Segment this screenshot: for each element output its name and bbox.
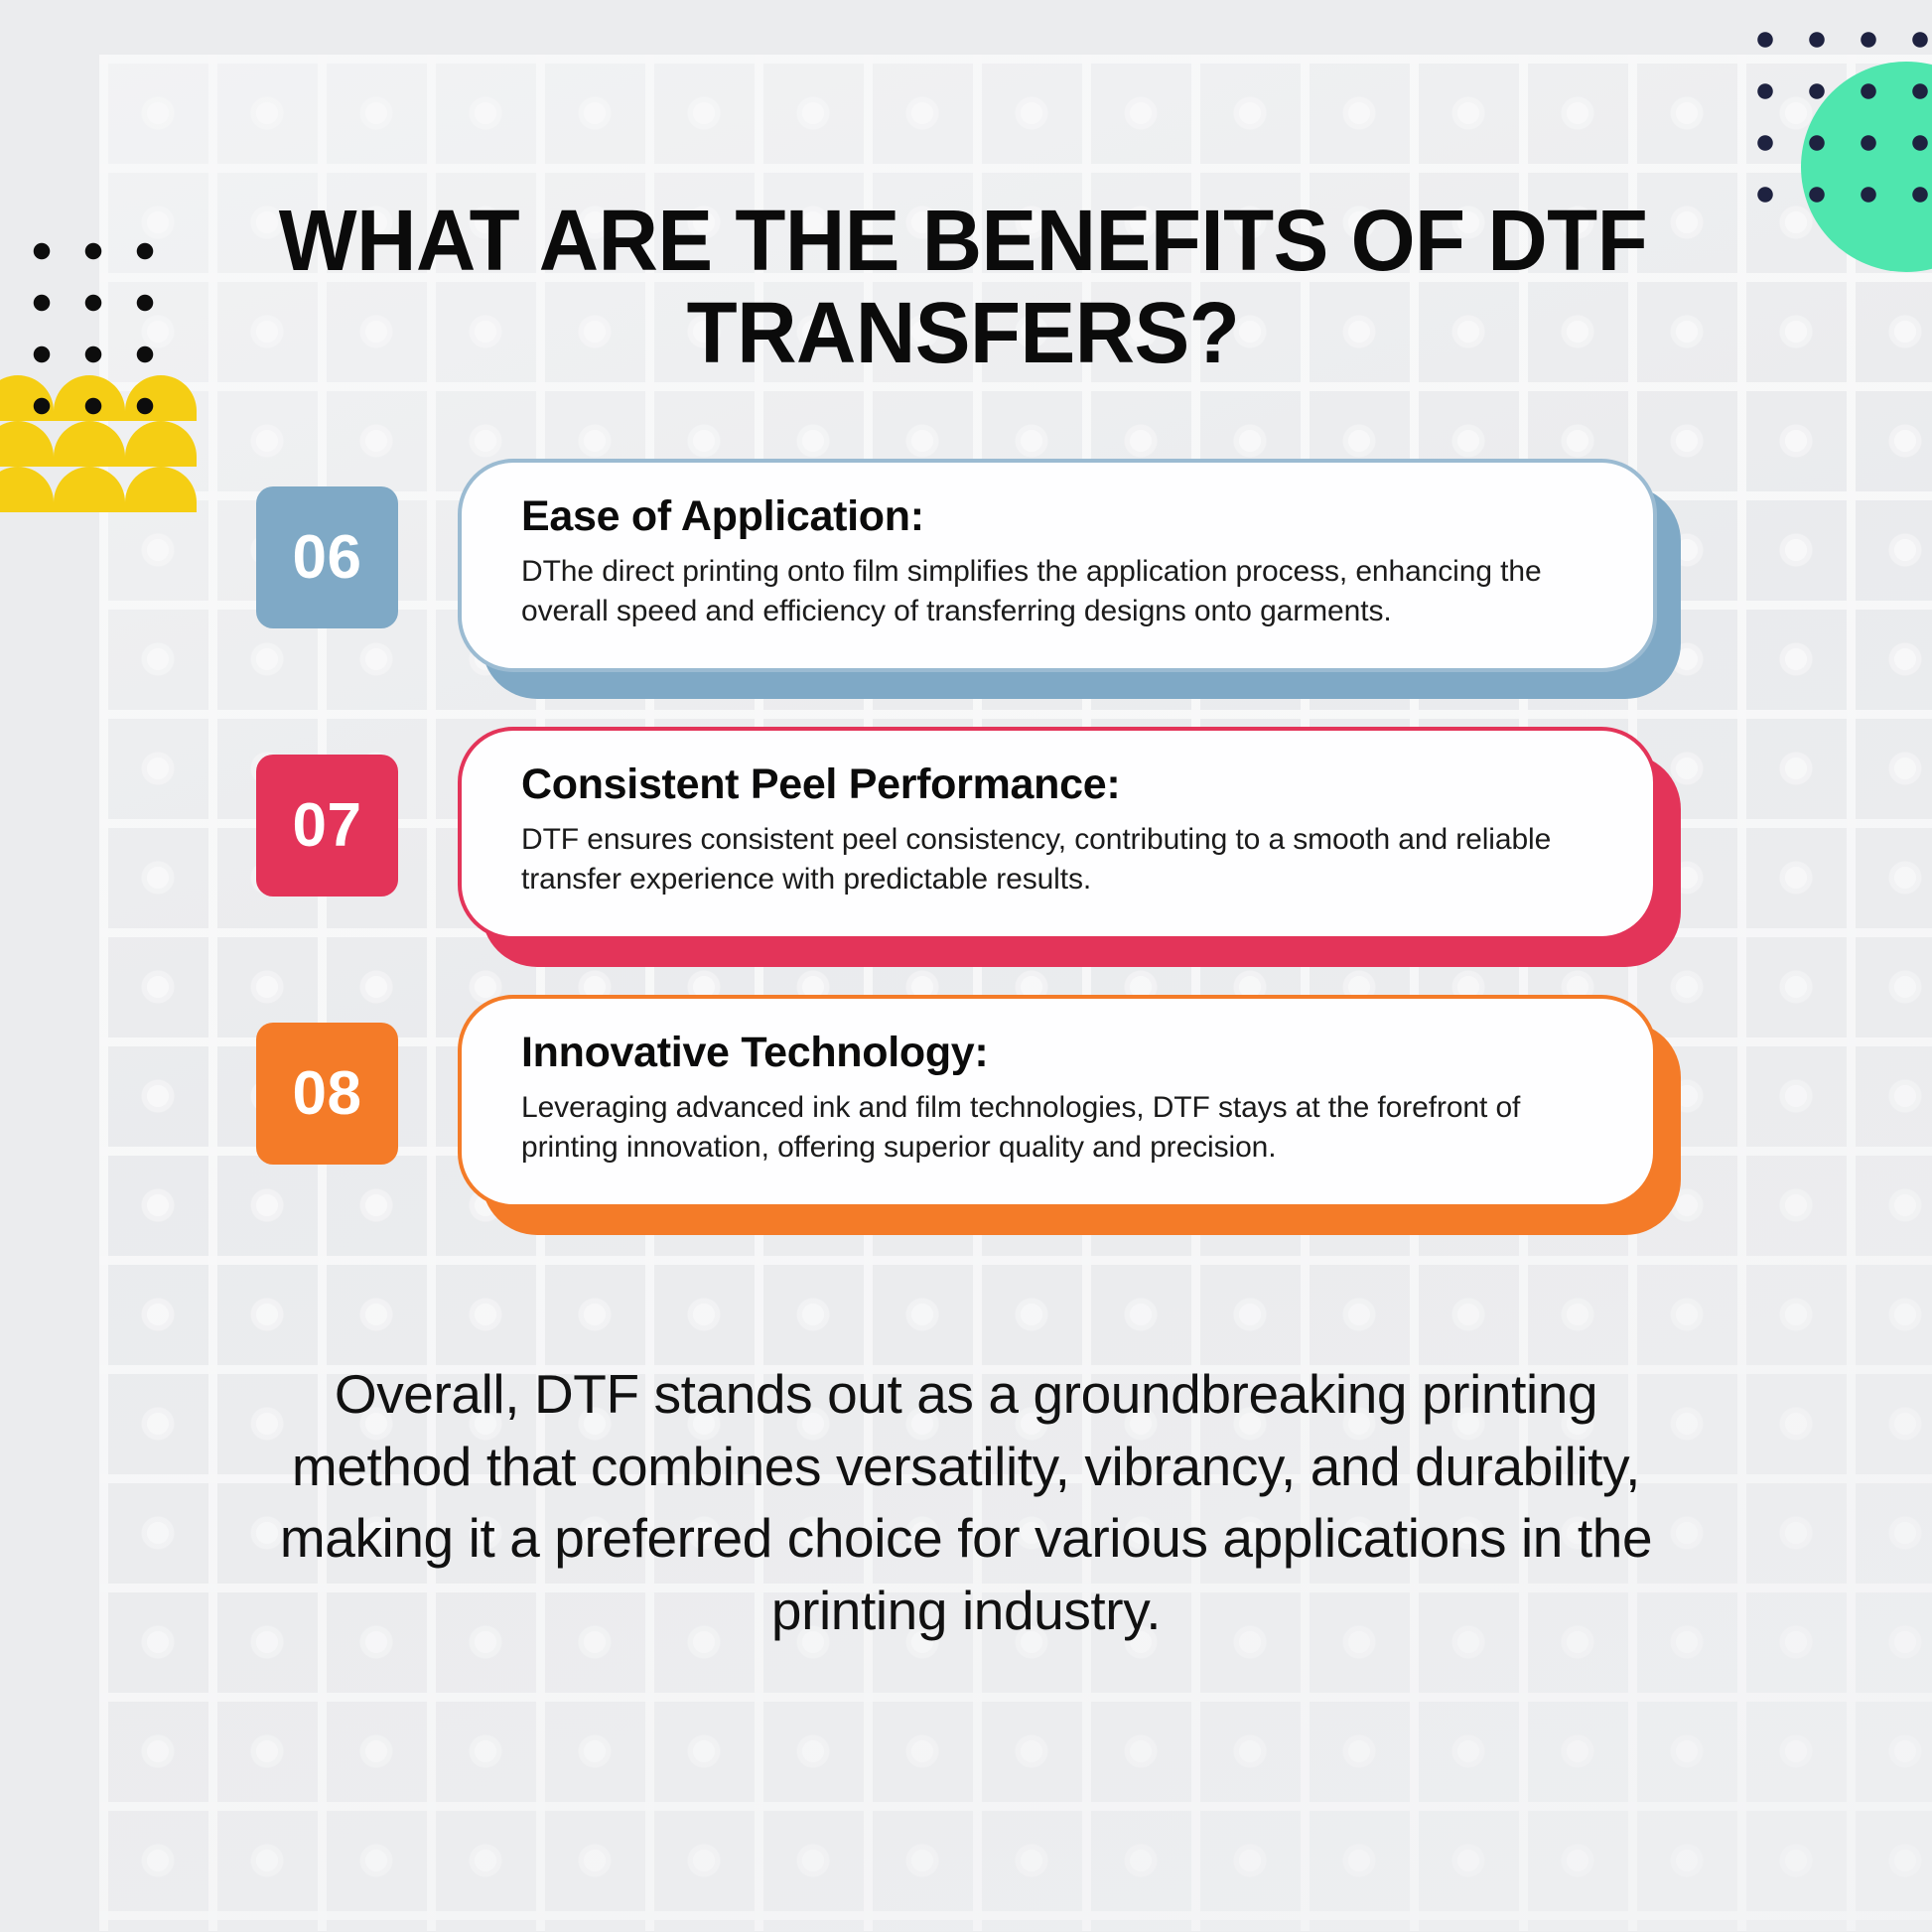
card-number-badge: 06: [256, 486, 398, 628]
card-description: DThe direct printing onto film simplifie…: [521, 552, 1595, 631]
card-panel: Consistent Peel Performance: DTF ensures…: [458, 727, 1657, 940]
card-description: DTF ensures consistent peel consistency,…: [521, 820, 1595, 899]
page-title: WHAT ARE THE BENEFITS OF DTF TRANSFERS?: [277, 195, 1649, 379]
benefit-card-06: Ease of Application: DThe direct printin…: [0, 459, 1932, 727]
benefit-card-07: Consistent Peel Performance: DTF ensures…: [0, 727, 1932, 995]
card-number-label: 07: [293, 790, 362, 861]
infographic-content: WHAT ARE THE BENEFITS OF DTF TRANSFERS? …: [0, 0, 1932, 1932]
card-number-label: 08: [293, 1058, 362, 1129]
card-panel: Innovative Technology: Leveraging advanc…: [458, 995, 1657, 1208]
closing-paragraph: Overall, DTF stands out as a groundbreak…: [241, 1358, 1691, 1646]
card-title: Innovative Technology:: [521, 1029, 1595, 1076]
card-title: Consistent Peel Performance:: [521, 760, 1595, 808]
benefits-card-list: Ease of Application: DThe direct printin…: [0, 459, 1932, 1263]
card-number-badge: 07: [256, 755, 398, 897]
card-title: Ease of Application:: [521, 492, 1595, 540]
card-panel: Ease of Application: DThe direct printin…: [458, 459, 1657, 672]
benefit-card-08: Innovative Technology: Leveraging advanc…: [0, 995, 1932, 1263]
card-description: Leveraging advanced ink and film technol…: [521, 1088, 1595, 1168]
card-number-label: 06: [293, 522, 362, 593]
card-number-badge: 08: [256, 1023, 398, 1165]
